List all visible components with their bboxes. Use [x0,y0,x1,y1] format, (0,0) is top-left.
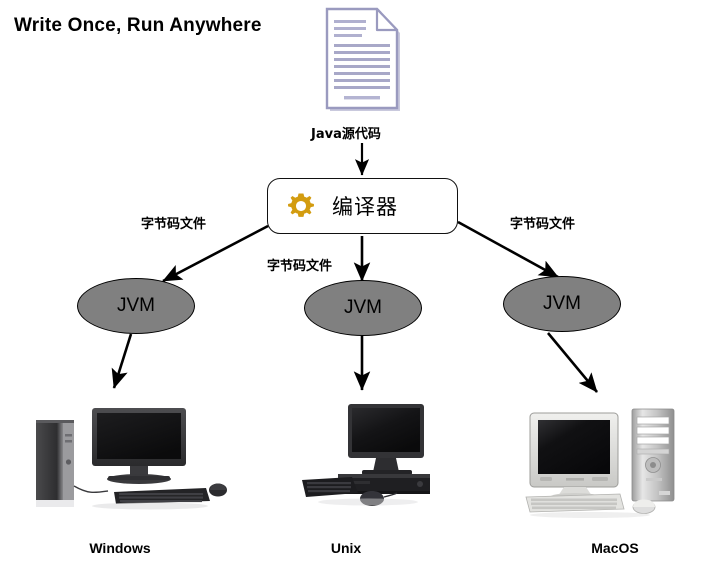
jvm-label: JVM [543,293,581,315]
jvm-label: JVM [344,297,382,319]
edge-label-left: 字节码文件 [141,213,206,232]
compiler-label: 编译器 [332,191,398,221]
platform-label-windows: Windows [60,540,180,556]
jvm-node-unix[interactable]: JVM [304,280,422,336]
compiler-node[interactable]: 编译器 [267,178,458,234]
jvm-node-windows[interactable]: JVM [77,278,195,334]
platform-image-windows [30,400,230,515]
gear-icon [286,191,316,221]
java-source-document [322,6,406,116]
edge-label-center: 字节码文件 [267,255,332,274]
document-icon [322,6,406,116]
edge-label-right: 字节码文件 [510,213,575,232]
desktop-computer-icon [296,398,436,516]
platform-label-macos: MacOS [568,540,662,556]
java-source-label: Java源代码 [311,123,381,142]
platform-image-macos [520,403,690,521]
jvm-node-macos[interactable]: JVM [503,276,621,332]
desktop-computer-icon [30,400,230,515]
platform-image-unix [296,398,436,516]
platform-label-unix: Unix [306,540,386,556]
diagram-canvas: Write Once, Run Anywhere [0,0,702,569]
desktop-computer-icon [520,403,690,521]
jvm-label: JVM [117,295,155,317]
page-title: Write Once, Run Anywhere [14,15,262,37]
